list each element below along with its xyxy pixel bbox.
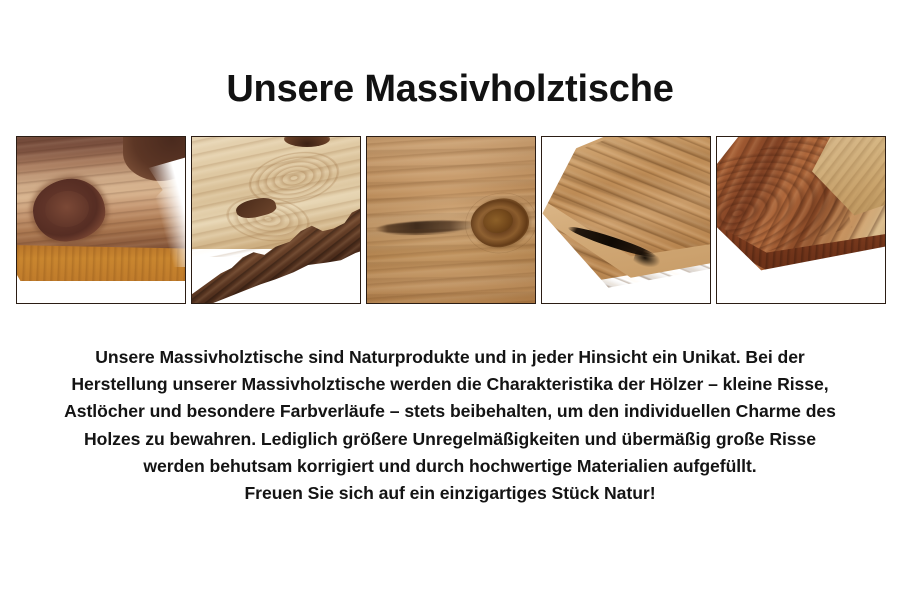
wood-photo-gallery	[16, 136, 886, 304]
photo-image-5	[717, 137, 885, 303]
description-line: Freuen Sie sich auf ein einzigartiges St…	[18, 480, 882, 507]
gallery-photo-wood-slab-rosewood-corner[interactable]	[716, 136, 886, 304]
gallery-photo-wood-grain-knot-closeup[interactable]	[366, 136, 536, 304]
description-line: werden behutsam korrigiert und durch hoc…	[18, 453, 882, 480]
gallery-photo-wood-slab-live-edge[interactable]	[191, 136, 361, 304]
description-line: Unsere Massivholztische sind Naturproduk…	[18, 344, 882, 371]
gallery-photo-wood-board-saw-marks-crack[interactable]	[541, 136, 711, 304]
photo-image-2	[192, 137, 360, 303]
photo-3-vignette	[367, 137, 535, 303]
description-paragraph: Unsere Massivholztische sind Naturproduk…	[18, 344, 882, 507]
description-line: Astlöcher und besondere Farbverläufe – s…	[18, 398, 882, 425]
description-line: Herstellung unserer Massivholztische wer…	[18, 371, 882, 398]
photo-image-4	[542, 137, 710, 303]
photo-1-white-base	[17, 281, 185, 303]
product-info-banner: Unsere Massivholztische	[0, 0, 900, 600]
gallery-photo-wood-slab-burl-corner[interactable]	[16, 136, 186, 304]
photo-image-1	[17, 137, 185, 303]
description-line: Holzes zu bewahren. Lediglich größere Un…	[18, 426, 882, 453]
page-title: Unsere Massivholztische	[0, 66, 900, 112]
photo-image-3	[367, 137, 535, 303]
